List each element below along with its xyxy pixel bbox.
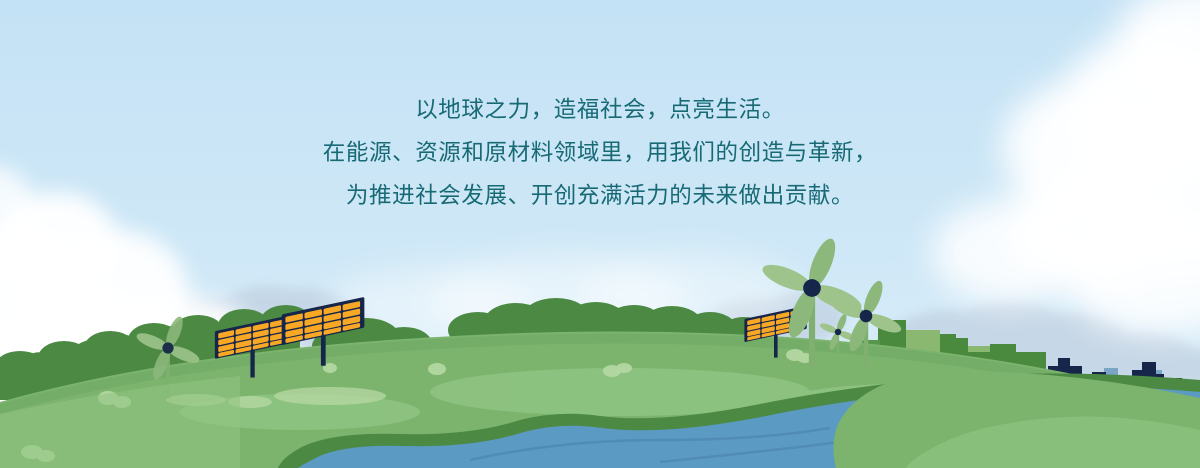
illustration-scene	[0, 0, 1200, 468]
eco-banner: 以地球之力，造福社会，点亮生活。 在能源、资源和原材料领域里，用我们的创造与革新…	[0, 0, 1200, 468]
